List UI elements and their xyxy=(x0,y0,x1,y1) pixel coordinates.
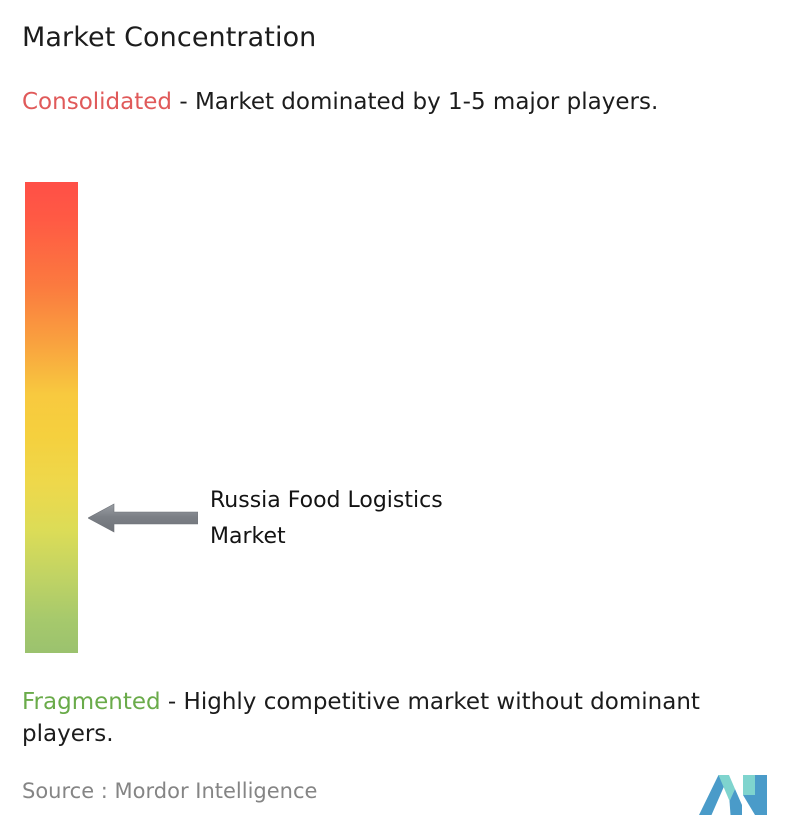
concentration-gradient-bar xyxy=(25,182,78,653)
legend-consolidated-key: Consolidated xyxy=(22,89,172,115)
market-pointer: Russia Food Logistics Market xyxy=(88,483,648,553)
legend-consolidated: Consolidated - Market dominated by 1-5 m… xyxy=(22,86,792,118)
market-concentration-chart: Market Concentration Consolidated - Mark… xyxy=(0,0,796,834)
mordor-intelligence-logo-icon xyxy=(699,771,767,815)
page-title: Market Concentration xyxy=(22,21,316,55)
arrow-left-icon xyxy=(88,503,198,533)
legend-fragmented-separator xyxy=(161,689,168,715)
source-attribution: Source : Mordor Intelligence xyxy=(22,777,317,805)
pointer-label: Russia Food Logistics Market xyxy=(210,483,443,555)
legend-fragmented-key: Fragmented xyxy=(22,689,161,715)
legend-fragmented: Fragmented - Highly competitive market w… xyxy=(22,686,792,750)
legend-consolidated-description: - Market dominated by 1-5 major players. xyxy=(179,89,658,115)
